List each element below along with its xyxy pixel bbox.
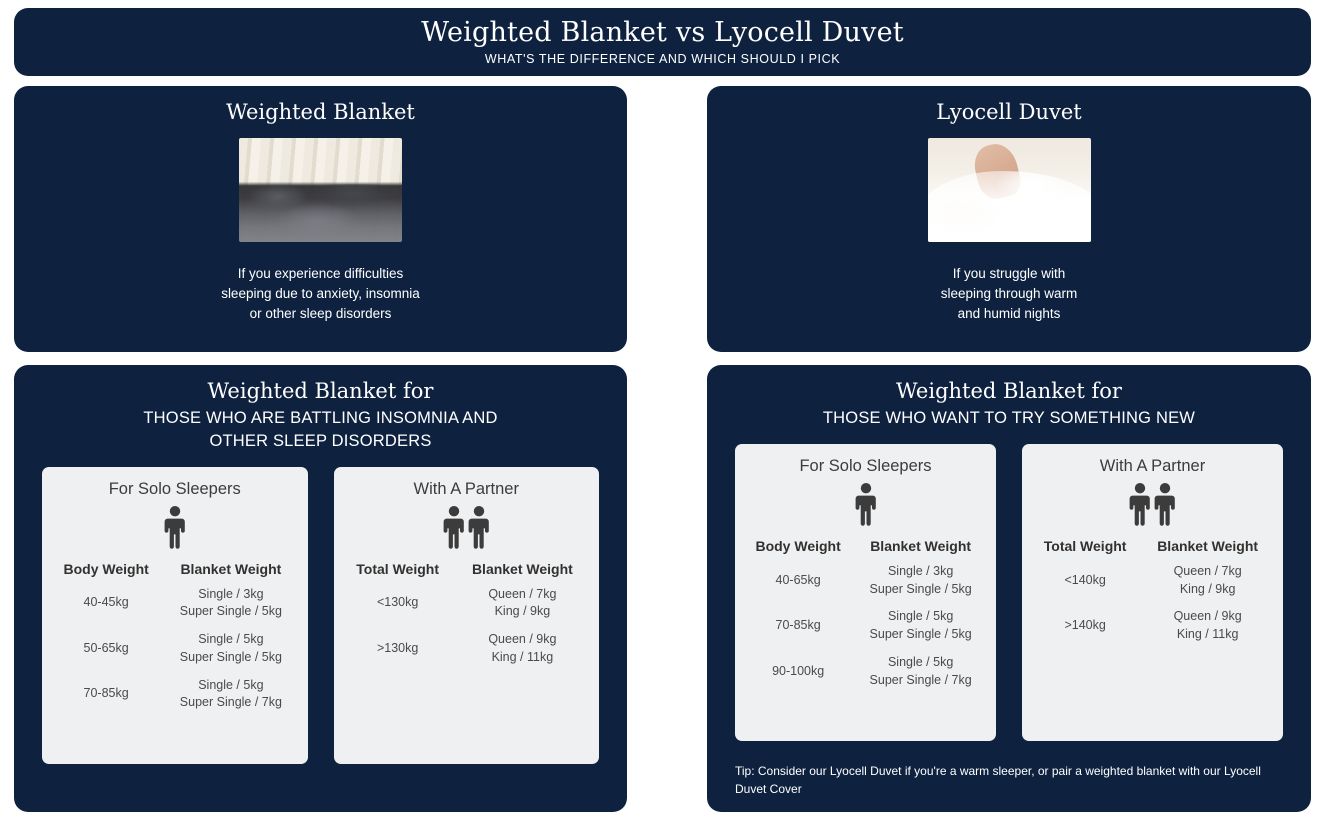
recommendation-title: Weighted Blanket for — [707, 379, 1311, 403]
column-header: Body Weight — [50, 561, 162, 577]
column-header: Total Weight — [342, 561, 454, 577]
blanket-weight-cell: Queen / 7kgKing / 9kg — [1140, 563, 1275, 599]
blanket-option: Super Single / 5kg — [162, 649, 299, 667]
table-solo-sleepers: For Solo SleepersBody WeightBlanket Weig… — [42, 467, 308, 764]
product-description: If you struggle withsleeping through war… — [941, 264, 1078, 324]
column-header: Blanket Weight — [853, 538, 988, 554]
blanket-option: Super Single / 5kg — [162, 603, 299, 621]
table-row: >140kgQueen / 9kgKing / 11kg — [1030, 608, 1275, 644]
blanket-option: Queen / 9kg — [454, 631, 591, 649]
weight-cell: 40-65kg — [743, 572, 853, 590]
infographic-page: Weighted Blanket vs Lyocell Duvet WHAT'S… — [0, 0, 1325, 820]
blanket-option: Single / 3kg — [162, 586, 299, 604]
table-header-row: Body WeightBlanket Weight — [50, 561, 300, 577]
blanket-option: Single / 5kg — [853, 654, 988, 672]
table-row: <130kgQueen / 7kgKing / 9kg — [342, 586, 592, 622]
person-icon — [1129, 482, 1151, 526]
blanket-weight-cell: Single / 5kgSuper Single / 7kg — [162, 677, 299, 713]
recommendation-panel-insomnia: Weighted Blanket for THOSE WHO ARE BATTL… — [14, 365, 627, 812]
table-row: 70-85kgSingle / 5kgSuper Single / 5kg — [743, 608, 988, 644]
person-icon — [443, 505, 465, 549]
lyocell-duvet-photo — [928, 138, 1091, 242]
two-person-icon — [1030, 482, 1275, 526]
two-person-icon — [342, 505, 592, 549]
blanket-weight-cell: Queen / 9kgKing / 11kg — [1140, 608, 1275, 644]
column-header: Blanket Weight — [1140, 538, 1275, 554]
blanket-weight-cell: Single / 3kgSuper Single / 5kg — [853, 563, 988, 599]
table-header-row: Total WeightBlanket Weight — [342, 561, 592, 577]
weight-cell: 90-100kg — [743, 663, 853, 681]
product-card-lyocell-duvet: Lyocell Duvet If you struggle withsleepi… — [707, 86, 1311, 352]
table-title: For Solo Sleepers — [50, 480, 300, 499]
recommendation-subtitle: THOSE WHO ARE BATTLING INSOMNIA ANDOTHER… — [14, 407, 627, 453]
weight-cell: 70-85kg — [743, 617, 853, 635]
blanket-weight-cell: Single / 5kgSuper Single / 7kg — [853, 654, 988, 690]
blanket-option: Super Single / 5kg — [853, 626, 988, 644]
recommendation-title: Weighted Blanket for — [14, 379, 627, 403]
weight-tables: For Solo SleepersBody WeightBlanket Weig… — [14, 467, 627, 764]
weight-cell: 50-65kg — [50, 640, 162, 658]
product-description: If you experience difficultiessleeping d… — [221, 264, 420, 324]
weight-cell: 40-45kg — [50, 594, 162, 612]
blanket-option: Queen / 7kg — [1140, 563, 1275, 581]
blanket-option: Super Single / 7kg — [162, 694, 299, 712]
column-header: Total Weight — [1030, 538, 1140, 554]
person-icon — [468, 505, 490, 549]
recommendation-header: Weighted Blanket for THOSE WHO WANT TO T… — [707, 365, 1311, 430]
recommendation-header: Weighted Blanket for THOSE WHO ARE BATTL… — [14, 365, 627, 453]
page-subtitle: WHAT'S THE DIFFERENCE AND WHICH SHOULD I… — [485, 52, 840, 66]
table-row: <140kgQueen / 7kgKing / 9kg — [1030, 563, 1275, 599]
blanket-weight-cell: Single / 5kgSuper Single / 5kg — [853, 608, 988, 644]
single-person-icon — [50, 505, 300, 549]
table-row: 90-100kgSingle / 5kgSuper Single / 7kg — [743, 654, 988, 690]
table-title: For Solo Sleepers — [743, 457, 988, 476]
table-with-a-partner: With A PartnerTotal WeightBlanket Weight… — [1022, 444, 1283, 741]
table-header-row: Total WeightBlanket Weight — [1030, 538, 1275, 554]
blanket-option: Queen / 7kg — [454, 586, 591, 604]
recommendation-subtitle: THOSE WHO WANT TO TRY SOMETHING NEW — [707, 407, 1311, 430]
blanket-option: Super Single / 7kg — [853, 672, 988, 690]
table-row: 40-45kgSingle / 3kgSuper Single / 5kg — [50, 586, 300, 622]
person-icon — [855, 482, 877, 526]
blanket-option: Super Single / 5kg — [853, 581, 988, 599]
weight-tables: For Solo SleepersBody WeightBlanket Weig… — [707, 444, 1311, 741]
blanket-option: King / 11kg — [454, 649, 591, 667]
person-icon — [1154, 482, 1176, 526]
weight-cell: <130kg — [342, 594, 454, 612]
blanket-option: Single / 5kg — [162, 631, 299, 649]
weight-cell: 70-85kg — [50, 685, 162, 703]
blanket-option: King / 11kg — [1140, 626, 1275, 644]
person-icon — [164, 505, 186, 549]
blanket-option: King / 9kg — [1140, 581, 1275, 599]
column-header: Blanket Weight — [162, 561, 299, 577]
recommendation-panel-something-new: Weighted Blanket for THOSE WHO WANT TO T… — [707, 365, 1311, 812]
blanket-option: Single / 3kg — [853, 563, 988, 581]
column-header: Body Weight — [743, 538, 853, 554]
tip-text: Tip: Consider our Lyocell Duvet if you'r… — [735, 762, 1289, 798]
column-header: Blanket Weight — [454, 561, 591, 577]
blanket-option: King / 9kg — [454, 603, 591, 621]
blanket-weight-cell: Queen / 9kgKing / 11kg — [454, 631, 591, 667]
weight-cell: <140kg — [1030, 572, 1140, 590]
table-row: 70-85kgSingle / 5kgSuper Single / 7kg — [50, 677, 300, 713]
table-title: With A Partner — [342, 480, 592, 499]
blanket-option: Single / 5kg — [853, 608, 988, 626]
blanket-weight-cell: Single / 5kgSuper Single / 5kg — [162, 631, 299, 667]
weight-cell: >140kg — [1030, 617, 1140, 635]
page-title: Weighted Blanket vs Lyocell Duvet — [421, 18, 904, 47]
product-title: Weighted Blanket — [226, 100, 415, 124]
product-title: Lyocell Duvet — [936, 100, 1081, 124]
blanket-weight-cell: Queen / 7kgKing / 9kg — [454, 586, 591, 622]
blanket-option: Single / 5kg — [162, 677, 299, 695]
table-title: With A Partner — [1030, 457, 1275, 476]
header-banner: Weighted Blanket vs Lyocell Duvet WHAT'S… — [14, 8, 1311, 76]
product-card-weighted-blanket: Weighted Blanket If you experience diffi… — [14, 86, 627, 352]
single-person-icon — [743, 482, 988, 526]
blanket-weight-cell: Single / 3kgSuper Single / 5kg — [162, 586, 299, 622]
table-row: >130kgQueen / 9kgKing / 11kg — [342, 631, 592, 667]
table-row: 40-65kgSingle / 3kgSuper Single / 5kg — [743, 563, 988, 599]
weight-cell: >130kg — [342, 640, 454, 658]
blanket-option: Queen / 9kg — [1140, 608, 1275, 626]
table-header-row: Body WeightBlanket Weight — [743, 538, 988, 554]
table-solo-sleepers: For Solo SleepersBody WeightBlanket Weig… — [735, 444, 996, 741]
table-row: 50-65kgSingle / 5kgSuper Single / 5kg — [50, 631, 300, 667]
table-with-a-partner: With A PartnerTotal WeightBlanket Weight… — [334, 467, 600, 764]
weighted-blanket-photo — [239, 138, 402, 242]
